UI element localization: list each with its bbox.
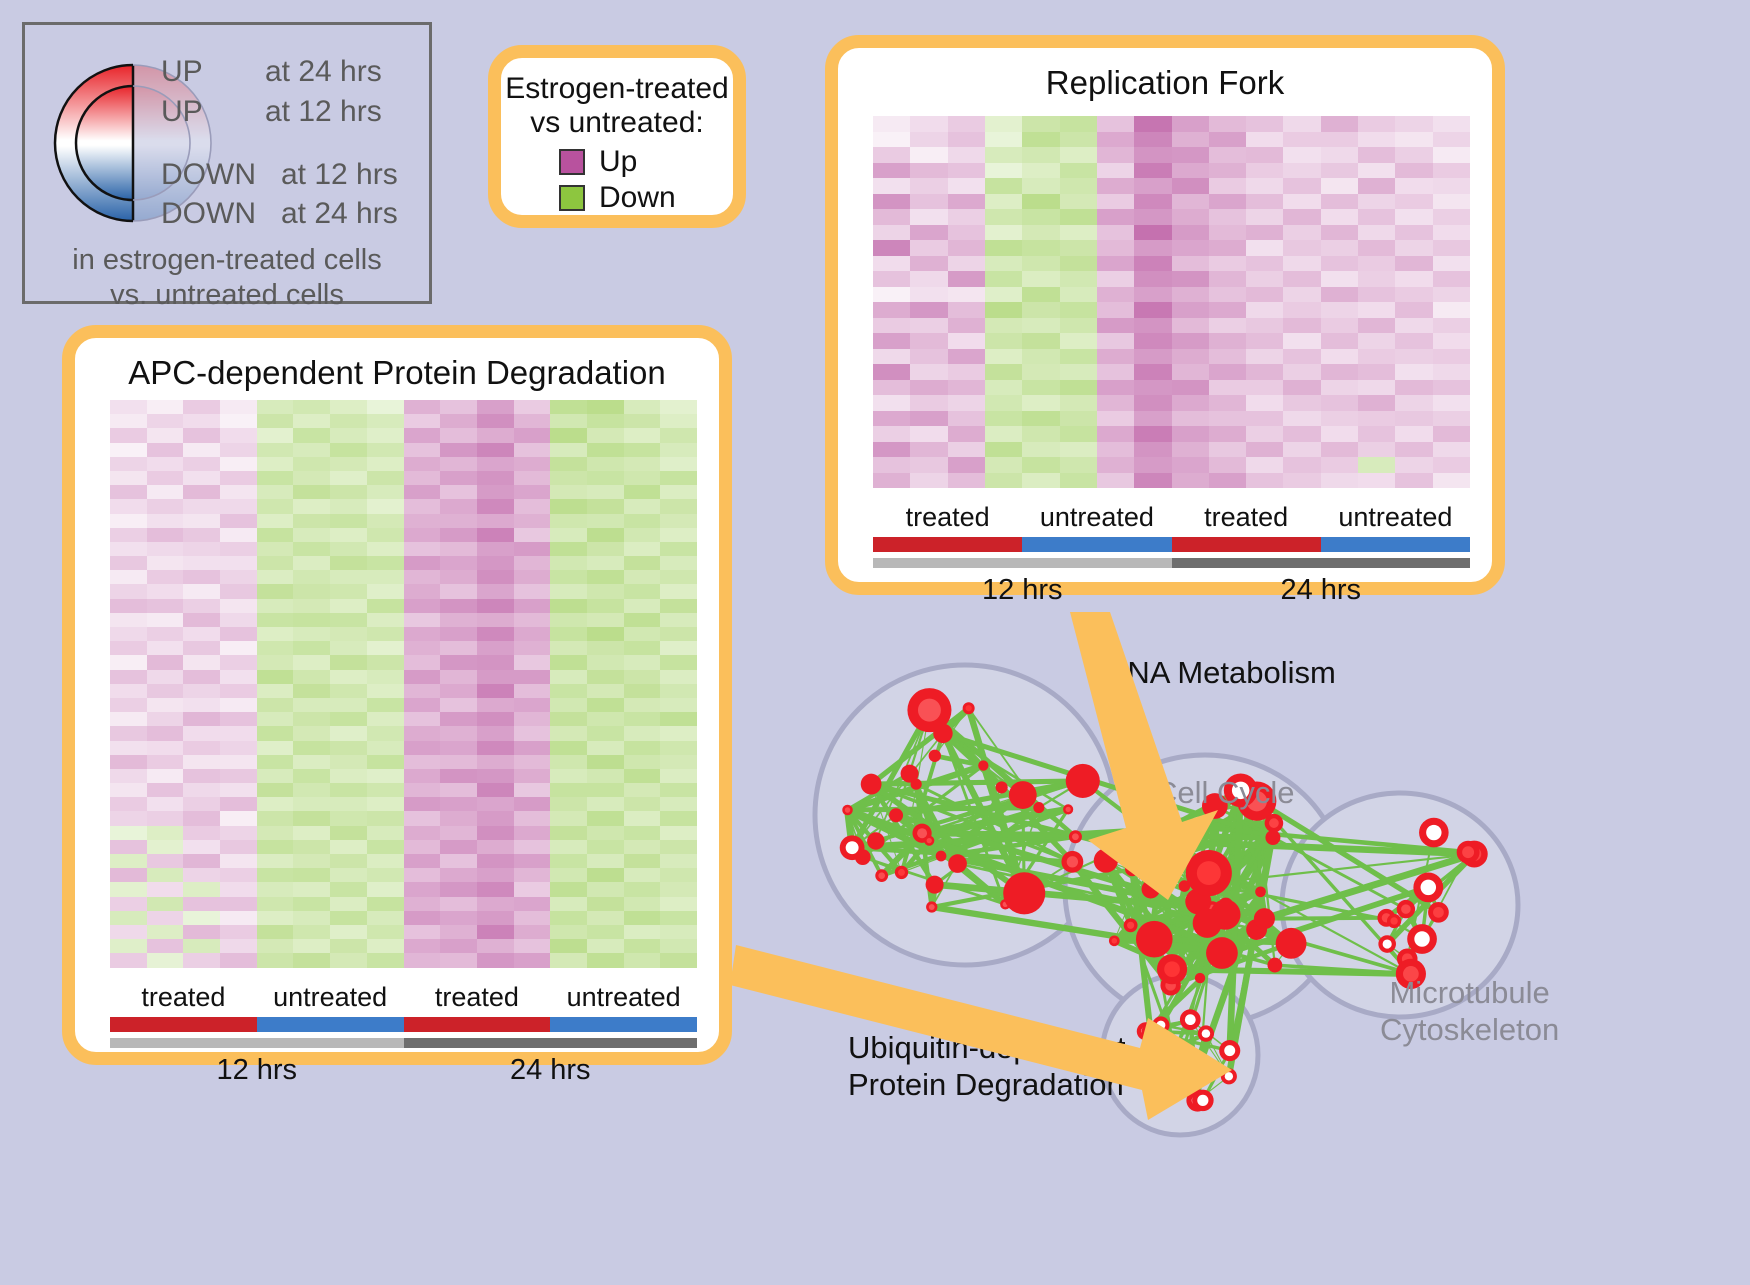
heatmap-cell bbox=[293, 570, 330, 584]
heatmap-cell bbox=[624, 400, 661, 414]
time-bar bbox=[1172, 558, 1471, 568]
heatmap-cell bbox=[367, 769, 404, 783]
heatmap-cell bbox=[1358, 116, 1395, 132]
heatmap-cell bbox=[220, 868, 257, 882]
heatmap-cell bbox=[147, 670, 184, 684]
heatmap-cell bbox=[1134, 380, 1171, 396]
heatmap-cell bbox=[477, 741, 514, 755]
group-label: treated bbox=[873, 502, 1022, 533]
heatmap-cell bbox=[293, 471, 330, 485]
heatmap-cell bbox=[367, 414, 404, 428]
heatmap-cell bbox=[587, 925, 624, 939]
heatmap-cell bbox=[147, 840, 184, 854]
heatmap-cell bbox=[624, 542, 661, 556]
network-node[interactable] bbox=[1195, 973, 1205, 983]
heatmap-cell bbox=[404, 868, 441, 882]
heatmap-cell bbox=[183, 655, 220, 669]
heatmap-cell bbox=[440, 641, 477, 655]
heatmap-cell bbox=[404, 570, 441, 584]
heatmap-cell bbox=[1097, 287, 1134, 303]
heatmap-cell bbox=[440, 797, 477, 811]
heatmap-cell bbox=[183, 400, 220, 414]
heatmap-cell bbox=[257, 485, 294, 499]
heatmap-cell bbox=[330, 443, 367, 457]
heatmap-cell bbox=[624, 811, 661, 825]
heatmap-cell bbox=[1134, 364, 1171, 380]
pathway-network-diagram: DNA Metabolism Cell Cycle Microtubule Cy… bbox=[780, 600, 1580, 1280]
network-node[interactable] bbox=[948, 854, 967, 873]
heatmap-cell bbox=[367, 655, 404, 669]
heatmap-cell bbox=[293, 457, 330, 471]
heatmap-cell bbox=[1022, 163, 1059, 179]
heatmap-cell bbox=[1060, 225, 1097, 241]
heatmap-cell bbox=[910, 411, 947, 427]
network-node[interactable] bbox=[1066, 764, 1100, 798]
heatmap-cell bbox=[1358, 178, 1395, 194]
heatmap-cell bbox=[147, 854, 184, 868]
heatmap-cell bbox=[624, 925, 661, 939]
heatmap-cell bbox=[293, 443, 330, 457]
heatmap-cell bbox=[1172, 194, 1209, 210]
ring-legend-footer: in estrogen-treated cells vs. untreated … bbox=[25, 243, 429, 314]
heatmap-cell bbox=[660, 499, 697, 513]
heatmap-cell bbox=[404, 443, 441, 457]
network-node[interactable] bbox=[1254, 908, 1275, 929]
heatmap-cell bbox=[1060, 256, 1097, 272]
network-node[interactable] bbox=[889, 808, 903, 822]
ring-legend-label-2: DOWN bbox=[161, 158, 256, 191]
heatmap-cell bbox=[550, 911, 587, 925]
heatmap-cell bbox=[330, 854, 367, 868]
heatmap-cell bbox=[1209, 380, 1246, 396]
apc-degradation-title: APC-dependent Protein Degradation bbox=[75, 354, 719, 392]
heatmap-cell bbox=[367, 684, 404, 698]
heatmap-cell bbox=[624, 599, 661, 613]
heatmap-cell bbox=[985, 333, 1022, 349]
heatmap-cell bbox=[660, 400, 697, 414]
group-bar bbox=[257, 1017, 404, 1032]
heatmap-cell bbox=[1172, 256, 1209, 272]
heatmap-cell bbox=[1433, 411, 1470, 427]
heatmap-cell bbox=[985, 147, 1022, 163]
heatmap-cell bbox=[587, 712, 624, 726]
time-bar bbox=[404, 1038, 698, 1048]
heatmap-cell bbox=[1283, 333, 1320, 349]
heatmap-cell bbox=[1022, 426, 1059, 442]
heatmap-cell bbox=[514, 613, 551, 627]
heatmap-cell bbox=[1060, 318, 1097, 334]
network-node[interactable] bbox=[933, 724, 952, 743]
heatmap-cell bbox=[147, 953, 184, 967]
heatmap-cell bbox=[910, 256, 947, 272]
heatmap-cell bbox=[1097, 240, 1134, 256]
heatmap-cell bbox=[330, 755, 367, 769]
heatmap-cell bbox=[1022, 132, 1059, 148]
replication-fork-heatmap-block: treateduntreatedtreateduntreated 12 hrs2… bbox=[873, 116, 1470, 607]
network-node[interactable] bbox=[867, 832, 884, 849]
heatmap-cell bbox=[477, 797, 514, 811]
heatmap-cell bbox=[873, 395, 910, 411]
heatmap-cell bbox=[514, 428, 551, 442]
heatmap-cell bbox=[1022, 318, 1059, 334]
heatmap-cell bbox=[220, 712, 257, 726]
heatmap-cell bbox=[1433, 302, 1470, 318]
heatmap-cell bbox=[220, 925, 257, 939]
network-node[interactable] bbox=[978, 760, 988, 770]
heatmap-cell bbox=[440, 428, 477, 442]
heatmap-cell bbox=[440, 826, 477, 840]
heatmap-cell bbox=[514, 584, 551, 598]
heatmap-cell bbox=[660, 755, 697, 769]
heatmap-cell bbox=[257, 897, 294, 911]
heatmap-cell bbox=[1060, 271, 1097, 287]
heatmap-cell bbox=[514, 457, 551, 471]
heatmap-cell bbox=[1134, 116, 1171, 132]
heatmap-cell bbox=[1395, 147, 1432, 163]
heatmap-cell bbox=[550, 726, 587, 740]
group-bar bbox=[110, 1017, 257, 1032]
heatmap-cell bbox=[147, 641, 184, 655]
heatmap-cell bbox=[873, 271, 910, 287]
heatmap-cell bbox=[147, 627, 184, 641]
heatmap-cell bbox=[183, 485, 220, 499]
heatmap-cell bbox=[514, 655, 551, 669]
heatmap-cell bbox=[660, 698, 697, 712]
heatmap-cell bbox=[330, 783, 367, 797]
heatmap-cell bbox=[1321, 209, 1358, 225]
heatmap-cell bbox=[1172, 457, 1209, 473]
heatmap-cell bbox=[110, 428, 147, 442]
heatmap-cell bbox=[110, 769, 147, 783]
heatmap-cell bbox=[948, 240, 985, 256]
heatmap-cell bbox=[1395, 411, 1432, 427]
heatmap-cell bbox=[1395, 333, 1432, 349]
heatmap-cell bbox=[1172, 349, 1209, 365]
heatmap-cell bbox=[330, 698, 367, 712]
heatmap-cell bbox=[587, 897, 624, 911]
network-node[interactable] bbox=[936, 851, 947, 862]
heatmap-cell bbox=[1321, 473, 1358, 489]
network-node-core bbox=[1433, 907, 1444, 918]
network-node[interactable] bbox=[1206, 937, 1238, 969]
heatmap-cell bbox=[147, 797, 184, 811]
heatmap-cell bbox=[1172, 364, 1209, 380]
heatmap-cell bbox=[367, 670, 404, 684]
replication-fork-group-labels: treateduntreatedtreateduntreated bbox=[873, 502, 1470, 533]
heatmap-cell bbox=[477, 684, 514, 698]
heatmap-cell bbox=[1172, 302, 1209, 318]
heatmap-cell bbox=[624, 769, 661, 783]
heatmap-cell bbox=[873, 457, 910, 473]
heatmap-cell bbox=[514, 783, 551, 797]
heatmap-cell bbox=[477, 400, 514, 414]
heatmap-cell bbox=[1060, 349, 1097, 365]
heatmap-cell bbox=[257, 471, 294, 485]
heatmap-cell bbox=[514, 570, 551, 584]
heatmap-cell bbox=[873, 225, 910, 241]
heatmap-cell bbox=[477, 556, 514, 570]
heatmap-cell bbox=[367, 897, 404, 911]
heatmap-cell bbox=[985, 240, 1022, 256]
heatmap-cell bbox=[660, 741, 697, 755]
heatmap-cell bbox=[1358, 209, 1395, 225]
heatmap-cell bbox=[220, 457, 257, 471]
heatmap-cell bbox=[1209, 426, 1246, 442]
heatmap-cell bbox=[985, 209, 1022, 225]
network-node-core bbox=[1127, 922, 1134, 929]
heatmap-cell bbox=[477, 471, 514, 485]
heatmap-cell bbox=[1209, 333, 1246, 349]
heatmap-cell bbox=[293, 414, 330, 428]
heatmap-cell bbox=[1246, 364, 1283, 380]
heatmap-cell bbox=[1321, 116, 1358, 132]
heatmap-cell bbox=[257, 599, 294, 613]
heatmap-cell bbox=[1172, 116, 1209, 132]
network-node[interactable] bbox=[996, 781, 1008, 793]
heatmap-cell bbox=[404, 400, 441, 414]
network-node[interactable] bbox=[1157, 853, 1167, 863]
heatmap-cell bbox=[1395, 194, 1432, 210]
heatmap-cell bbox=[1134, 426, 1171, 442]
up-color-swatch bbox=[559, 149, 585, 175]
heatmap-cell bbox=[1395, 271, 1432, 287]
expression-legend-title-line1: Estrogen-treated bbox=[501, 72, 733, 106]
time-label: 24 hrs bbox=[404, 1054, 698, 1087]
heatmap-cell bbox=[550, 443, 587, 457]
heatmap-cell bbox=[587, 783, 624, 797]
heatmap-cell bbox=[1433, 225, 1470, 241]
heatmap-cell bbox=[183, 542, 220, 556]
heatmap-cell bbox=[220, 755, 257, 769]
heatmap-cell bbox=[183, 783, 220, 797]
heatmap-cell bbox=[1060, 395, 1097, 411]
heatmap-cell bbox=[660, 868, 697, 882]
network-node[interactable] bbox=[1033, 802, 1044, 813]
heatmap-cell bbox=[1321, 163, 1358, 179]
heatmap-cell bbox=[1022, 380, 1059, 396]
replication-fork-time-bars bbox=[873, 558, 1470, 568]
network-node[interactable] bbox=[1193, 909, 1222, 938]
heatmap-cell bbox=[147, 499, 184, 513]
heatmap-cell bbox=[293, 599, 330, 613]
network-node[interactable] bbox=[1136, 921, 1173, 958]
heatmap-cell bbox=[624, 939, 661, 953]
heatmap-cell bbox=[440, 783, 477, 797]
heatmap-cell bbox=[985, 225, 1022, 241]
heatmap-cell bbox=[1246, 333, 1283, 349]
heatmap-cell bbox=[948, 318, 985, 334]
heatmap-cell bbox=[1097, 318, 1134, 334]
heatmap-cell bbox=[330, 599, 367, 613]
heatmap-cell bbox=[330, 514, 367, 528]
heatmap-cell bbox=[587, 613, 624, 627]
heatmap-cell bbox=[330, 726, 367, 740]
heatmap-cell bbox=[257, 854, 294, 868]
heatmap-cell bbox=[404, 613, 441, 627]
heatmap-cell bbox=[550, 627, 587, 641]
heatmap-cell bbox=[1433, 457, 1470, 473]
heatmap-cell bbox=[660, 854, 697, 868]
heatmap-cell bbox=[220, 783, 257, 797]
heatmap-cell bbox=[550, 684, 587, 698]
heatmap-cell bbox=[1246, 411, 1283, 427]
heatmap-cell bbox=[660, 655, 697, 669]
heatmap-cell bbox=[1433, 380, 1470, 396]
heatmap-cell bbox=[257, 726, 294, 740]
network-node-core bbox=[927, 838, 932, 843]
heatmap-cell bbox=[257, 826, 294, 840]
heatmap-cell bbox=[257, 840, 294, 854]
heatmap-cell bbox=[330, 627, 367, 641]
network-node[interactable] bbox=[929, 750, 941, 762]
heatmap-cell bbox=[1134, 132, 1171, 148]
heatmap-cell bbox=[948, 225, 985, 241]
network-node[interactable] bbox=[926, 876, 944, 894]
heatmap-cell bbox=[1172, 225, 1209, 241]
network-node[interactable] bbox=[911, 779, 922, 790]
heatmap-cell bbox=[1060, 426, 1097, 442]
heatmap-cell bbox=[367, 811, 404, 825]
heatmap-cell bbox=[514, 939, 551, 953]
heatmap-cell bbox=[404, 925, 441, 939]
network-node[interactable] bbox=[1142, 880, 1160, 898]
heatmap-cell bbox=[1022, 364, 1059, 380]
heatmap-cell bbox=[293, 584, 330, 598]
network-node[interactable] bbox=[1276, 928, 1307, 959]
heatmap-cell bbox=[293, 670, 330, 684]
heatmap-cell bbox=[147, 414, 184, 428]
network-node[interactable] bbox=[1094, 848, 1118, 872]
heatmap-cell bbox=[220, 897, 257, 911]
heatmap-cell bbox=[985, 178, 1022, 194]
heatmap-cell bbox=[1022, 256, 1059, 272]
heatmap-cell bbox=[624, 882, 661, 896]
heatmap-cell bbox=[1246, 132, 1283, 148]
heatmap-cell bbox=[1134, 287, 1171, 303]
heatmap-cell bbox=[1172, 178, 1209, 194]
heatmap-cell bbox=[910, 318, 947, 334]
heatmap-cell bbox=[1395, 256, 1432, 272]
heatmap-cell bbox=[873, 163, 910, 179]
heatmap-cell bbox=[293, 684, 330, 698]
heatmap-cell bbox=[948, 364, 985, 380]
network-node[interactable] bbox=[1255, 886, 1266, 897]
heatmap-cell bbox=[624, 911, 661, 925]
group-bar bbox=[550, 1017, 697, 1032]
heatmap-cell bbox=[1395, 287, 1432, 303]
heatmap-cell bbox=[477, 726, 514, 740]
network-node[interactable] bbox=[855, 849, 871, 865]
heatmap-cell bbox=[910, 364, 947, 380]
heatmap-cell bbox=[514, 854, 551, 868]
heatmap-cell bbox=[1022, 349, 1059, 365]
heatmap-cell bbox=[660, 925, 697, 939]
heatmap-cell bbox=[220, 528, 257, 542]
heatmap-cell bbox=[1246, 271, 1283, 287]
heatmap-cell bbox=[1060, 178, 1097, 194]
heatmap-cell bbox=[367, 797, 404, 811]
heatmap-cell bbox=[985, 132, 1022, 148]
heatmap-cell bbox=[1321, 302, 1358, 318]
heatmap-cell bbox=[910, 240, 947, 256]
heatmap-cell bbox=[1395, 442, 1432, 458]
heatmap-cell bbox=[257, 911, 294, 925]
heatmap-cell bbox=[873, 333, 910, 349]
heatmap-cell bbox=[330, 868, 367, 882]
network-node[interactable] bbox=[1125, 862, 1139, 876]
heatmap-cell bbox=[1022, 302, 1059, 318]
heatmap-cell bbox=[624, 641, 661, 655]
heatmap-cell bbox=[514, 911, 551, 925]
heatmap-cell bbox=[514, 556, 551, 570]
heatmap-cell bbox=[1283, 178, 1320, 194]
heatmap-cell bbox=[1358, 225, 1395, 241]
heatmap-cell bbox=[477, 514, 514, 528]
heatmap-cell bbox=[660, 769, 697, 783]
heatmap-cell bbox=[220, 514, 257, 528]
heatmap-cell bbox=[660, 514, 697, 528]
heatmap-cell bbox=[110, 584, 147, 598]
network-node[interactable] bbox=[861, 774, 882, 795]
heatmap-cell bbox=[293, 755, 330, 769]
apc-time-labels: 12 hrs24 hrs bbox=[110, 1054, 697, 1087]
heatmap-cell bbox=[587, 471, 624, 485]
heatmap-cell bbox=[257, 457, 294, 471]
group-bar bbox=[404, 1017, 551, 1032]
heatmap-cell bbox=[514, 741, 551, 755]
heatmap-cell bbox=[1097, 457, 1134, 473]
network-node[interactable] bbox=[1003, 872, 1045, 914]
network-node-core bbox=[1421, 880, 1436, 895]
heatmap-cell bbox=[147, 755, 184, 769]
heatmap-cell bbox=[477, 925, 514, 939]
heatmap-cell bbox=[514, 528, 551, 542]
heatmap-cell bbox=[587, 499, 624, 513]
heatmap-cell bbox=[587, 769, 624, 783]
heatmap-cell bbox=[477, 882, 514, 896]
heatmap-cell bbox=[1358, 240, 1395, 256]
heatmap-cell bbox=[660, 584, 697, 598]
heatmap-cell bbox=[514, 684, 551, 698]
figure-root: UP at 24 hrs UP at 12 hrs DOWN at 12 hrs… bbox=[0, 0, 1750, 1279]
network-node[interactable] bbox=[1009, 781, 1037, 809]
heatmap-cell bbox=[110, 414, 147, 428]
heatmap-cell bbox=[514, 443, 551, 457]
heatmap-cell bbox=[367, 755, 404, 769]
heatmap-cell bbox=[985, 442, 1022, 458]
network-node-core bbox=[1067, 856, 1078, 867]
heatmap-cell bbox=[1134, 147, 1171, 163]
heatmap-cell bbox=[404, 726, 441, 740]
heatmap-cell bbox=[110, 641, 147, 655]
heatmap-cell bbox=[110, 528, 147, 542]
heatmap-cell bbox=[660, 840, 697, 854]
heatmap-cell bbox=[624, 556, 661, 570]
heatmap-cell bbox=[293, 428, 330, 442]
heatmap-cell bbox=[257, 939, 294, 953]
heatmap-cell bbox=[1097, 116, 1134, 132]
heatmap-cell bbox=[110, 826, 147, 840]
network-node[interactable] bbox=[1267, 958, 1282, 973]
heatmap-cell bbox=[1433, 395, 1470, 411]
heatmap-cell bbox=[293, 556, 330, 570]
heatmap-cell bbox=[404, 485, 441, 499]
heatmap-cell bbox=[293, 641, 330, 655]
apc-degradation-panel: APC-dependent Protein Degradation treate… bbox=[62, 325, 732, 1065]
heatmap-cell bbox=[330, 428, 367, 442]
heatmap-cell bbox=[550, 769, 587, 783]
heatmap-cell bbox=[183, 840, 220, 854]
